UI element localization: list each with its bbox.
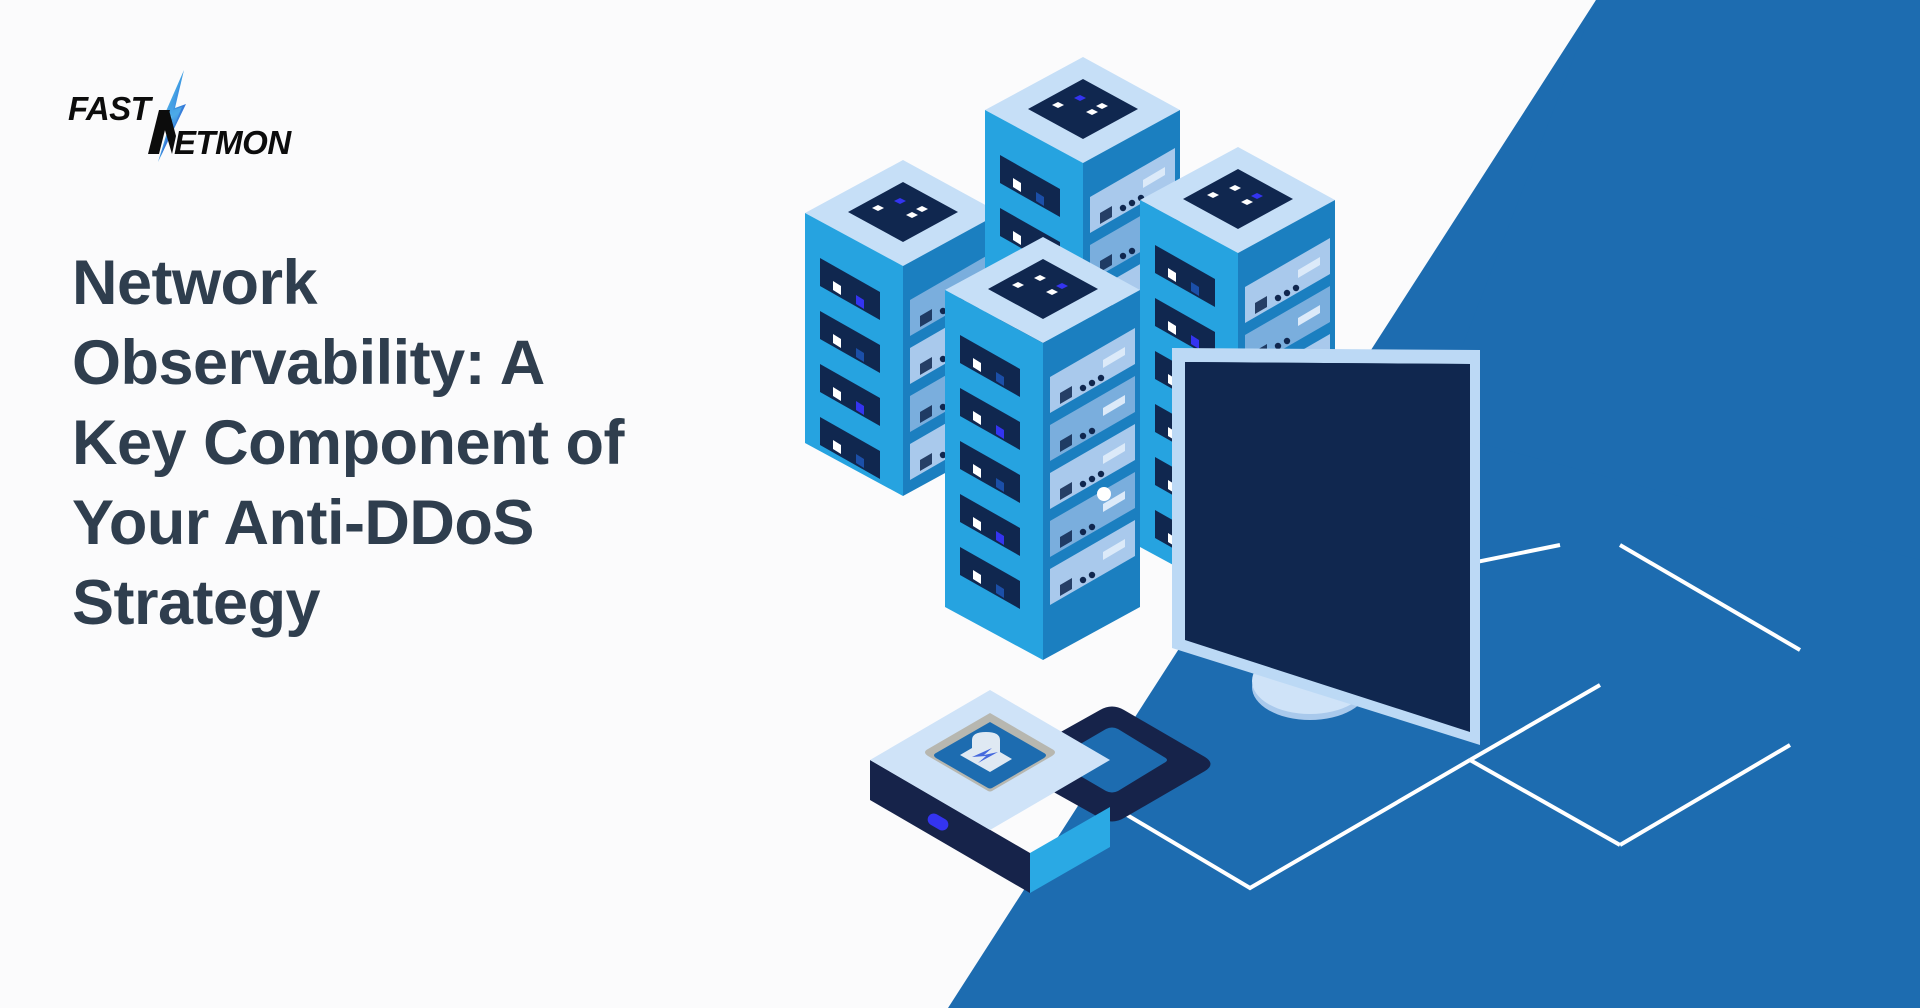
fastnetmon-logo[interactable]: FAST ETMON (62, 70, 312, 162)
headline-line-5: Strategy (72, 563, 772, 643)
headline-line-3: Key Component of (72, 403, 772, 483)
headline-line-4: Your Anti-DDoS (72, 483, 772, 563)
headline-line-1: Network (72, 243, 772, 323)
banner-root: FAST ETMON Network Observability: A Key … (0, 0, 1920, 1008)
logo-text-fast: FAST (68, 90, 154, 127)
page-title: Network Observability: A Key Component o… (72, 243, 772, 643)
headline-line-2: Observability: A (72, 323, 772, 403)
fastnetmon-logo-mark: FAST ETMON (62, 70, 312, 162)
logo-text-etmon: ETMON (174, 124, 292, 161)
